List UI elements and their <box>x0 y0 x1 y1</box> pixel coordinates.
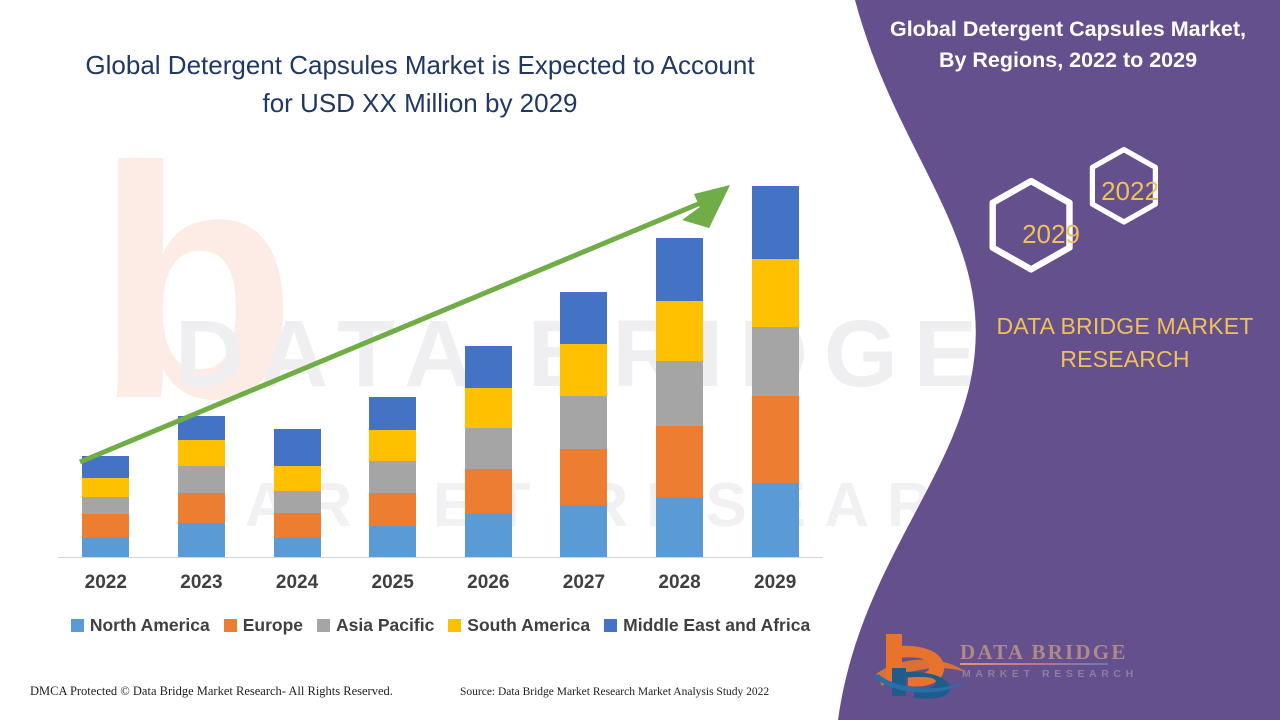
footer-source: Source: Data Bridge Market Research Mark… <box>460 686 769 698</box>
hexagon-2022-label: 2022 <box>1101 176 1159 206</box>
brand-name-line1: DATA BRIDGE MARKET <box>960 310 1280 343</box>
dbmr-logo-subtext: MARKET RESEARCH <box>962 668 1138 680</box>
legend-swatch-icon <box>317 619 330 632</box>
page-title-line2: for USD XX Million by 2029 <box>60 84 780 122</box>
dbmr-logo-wordmark: DATA BRIDGE <box>960 640 1128 665</box>
x-axis-label-2022: 2022 <box>58 572 154 594</box>
hexagon-2029-label: 2029 <box>1022 219 1080 249</box>
legend-label: Middle East and Africa <box>623 615 810 636</box>
legend-item[interactable]: Middle East and Africa <box>604 615 810 636</box>
legend-swatch-icon <box>448 619 461 632</box>
x-axis-label-2025: 2025 <box>345 572 441 594</box>
panel-title-line1: Global Detergent Capsules Market, <box>868 14 1268 45</box>
footer-copyright: DMCA Protected © Data Bridge Market Rese… <box>30 684 393 699</box>
x-axis-labels: 20222023202420252026202720282029 <box>58 572 823 602</box>
panel-title: Global Detergent Capsules Market, By Reg… <box>868 14 1268 76</box>
chart-legend: North AmericaEuropeAsia PacificSouth Ame… <box>58 615 823 636</box>
page-title: Global Detergent Capsules Market is Expe… <box>60 46 780 122</box>
x-axis-label-2023: 2023 <box>153 572 249 594</box>
legend-swatch-icon <box>224 619 237 632</box>
legend-item[interactable]: Europe <box>224 615 303 636</box>
legend-item[interactable]: North America <box>71 615 210 636</box>
legend-swatch-icon <box>604 619 617 632</box>
brand-name: DATA BRIDGE MARKET RESEARCH <box>960 310 1280 376</box>
panel-title-line2: By Regions, 2022 to 2029 <box>868 45 1268 76</box>
hexagon-badges: 2029 2022 <box>985 135 1185 300</box>
chart-panel: Global Detergent Capsules Market is Expe… <box>0 0 860 720</box>
brand-name-line2: RESEARCH <box>960 343 1280 376</box>
legend-label: Asia Pacific <box>336 615 434 636</box>
page-title-line1: Global Detergent Capsules Market is Expe… <box>60 46 780 84</box>
legend-item[interactable]: Asia Pacific <box>317 615 434 636</box>
x-axis-label-2027: 2027 <box>536 572 632 594</box>
legend-item[interactable]: South America <box>448 615 590 636</box>
legend-label: South America <box>467 615 590 636</box>
legend-label: North America <box>90 615 210 636</box>
x-axis-label-2028: 2028 <box>632 572 728 594</box>
trend-arrow-icon <box>58 150 823 558</box>
legend-swatch-icon <box>71 619 84 632</box>
x-axis-label-2026: 2026 <box>440 572 536 594</box>
legend-label: Europe <box>243 615 303 636</box>
x-axis-label-2024: 2024 <box>249 572 345 594</box>
